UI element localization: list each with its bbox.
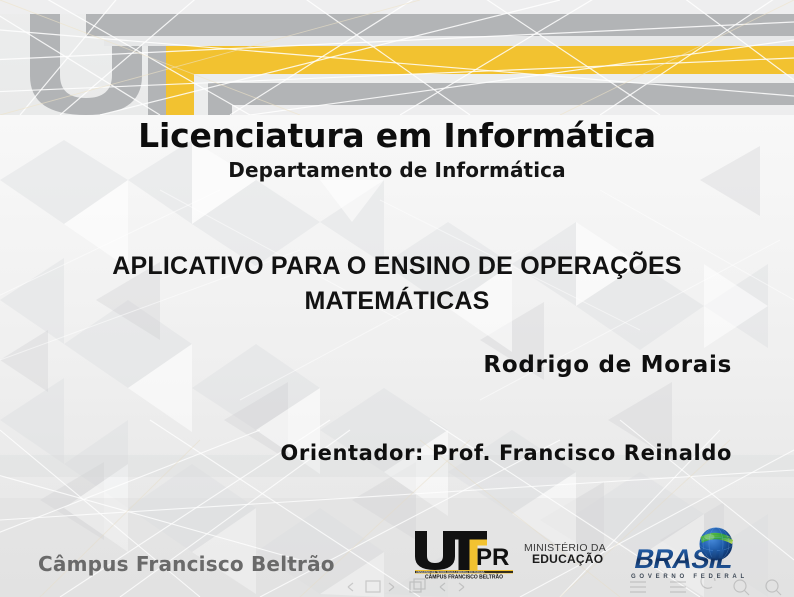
pdf-viewer-controls[interactable] (340, 578, 794, 597)
brasil-governo-federal-logo: BRASIL GOVERNO FEDERAL (628, 526, 768, 584)
department-title: Departamento de Informática (0, 158, 794, 182)
zoom-in-handle (776, 590, 781, 595)
zoom-out-handle (744, 590, 749, 595)
rotate-icon (701, 578, 715, 588)
last-page-icon (459, 583, 464, 591)
header-banner (0, 0, 794, 115)
mec-line2: EDUCAÇÃO (532, 551, 603, 566)
two-page-icon-back (414, 579, 425, 589)
work-title: APLICATIVO PARA O ENSINO DE OPERAÇÕES MA… (0, 249, 794, 318)
mec-logo: MINISTÉRIO DA EDUCAÇÃO (523, 537, 619, 573)
campus-label: Câmpus Francisco Beltrão (38, 552, 335, 576)
menu-icon (630, 582, 646, 592)
utfpr-logo: PR UNIVERSIDADE TECNOLÓGICA FEDERAL DO P… (412, 528, 518, 580)
presentation-slide: Licenciatura em Informática Departamento… (0, 0, 794, 597)
course-title: Licenciatura em Informática (0, 119, 794, 154)
utfpr-watermark-graphic (0, 0, 794, 115)
svg-text:PR: PR (476, 544, 509, 571)
single-page-icon (366, 581, 380, 592)
course-title-block: Licenciatura em Informática Departamento… (0, 119, 794, 182)
next-page-icon (389, 583, 394, 591)
svg-text:BRASIL: BRASIL (632, 543, 736, 574)
menu-icon-2 (670, 582, 686, 592)
two-page-icon (410, 582, 421, 592)
author-name: Rodrigo de Morais (483, 352, 732, 378)
brasil-wordmark: BRASIL (632, 543, 736, 574)
advisor-name: Orientador: Prof. Francisco Reinaldo (280, 441, 732, 465)
first-page-icon (440, 583, 445, 591)
prev-page-icon (348, 583, 353, 591)
